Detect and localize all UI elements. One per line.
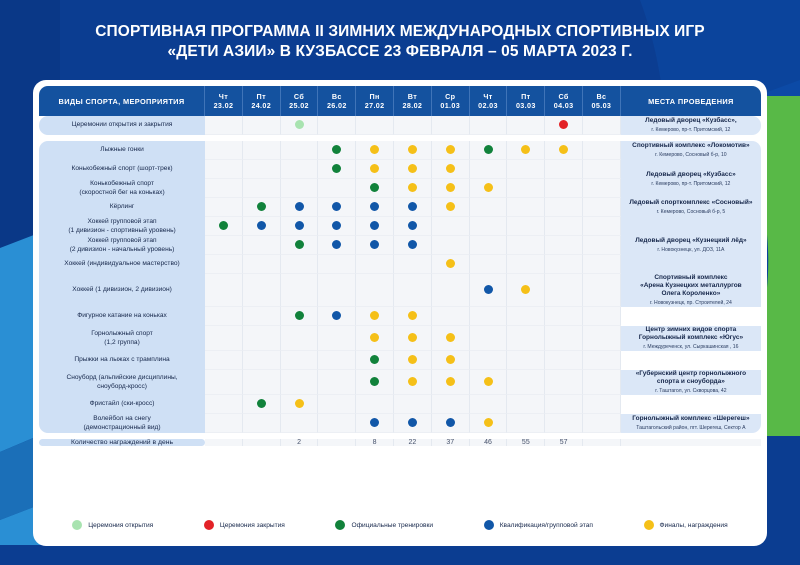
legend-item-train: Официальные тренировки xyxy=(335,520,433,530)
schedule-cell-27.02 xyxy=(356,326,394,351)
title-line-2: «ДЕТИ АЗИИ» В КУЗБАССЕ 23 ФЕВРАЛЯ – 05 М… xyxy=(0,42,800,62)
schedule-cell-24.02 xyxy=(243,217,281,236)
day-of-week: Вс xyxy=(583,92,620,101)
schedule-cell-25.02 xyxy=(281,326,319,351)
schedule-cell-26.02 xyxy=(318,198,356,217)
status-dot-qual xyxy=(257,221,266,230)
schedule-cell-02.03 xyxy=(470,351,508,370)
status-dot-final xyxy=(408,355,417,364)
table-body: Церемонии открытия и закрытияЛедовый дво… xyxy=(39,116,761,446)
schedule-cell-24.02 xyxy=(243,395,281,414)
schedule-cell-04.03 xyxy=(545,198,583,217)
schedule-cell-03.03 xyxy=(507,236,545,255)
table-header: ВИДЫ СПОРТА, МЕРОПРИЯТИЯ Чт23.02Пт24.02С… xyxy=(39,86,761,116)
status-dot-qual xyxy=(370,202,379,211)
sport-name-cell: Церемонии открытия и закрытия xyxy=(39,116,205,135)
status-dot-train xyxy=(332,164,341,173)
header-day-28.02: Вт28.02 xyxy=(394,86,432,116)
day-date: 24.02 xyxy=(243,101,280,110)
venue-cell: Ледовый дворец «Кузбасс»,г. Кемерово, пр… xyxy=(621,116,761,135)
status-dot-final xyxy=(484,418,493,427)
legend-dot-final xyxy=(644,520,654,530)
status-dot-qual xyxy=(408,202,417,211)
schedule-cell-25.02 xyxy=(281,160,319,179)
schedule-cell-23.02 xyxy=(205,370,243,395)
status-dot-train xyxy=(484,145,493,154)
schedule-cell-03.03 xyxy=(507,351,545,370)
page-root: СПОРТИВНАЯ ПРОГРАММА II ЗИМНИХ МЕЖДУНАРО… xyxy=(0,0,800,565)
status-dot-qual xyxy=(370,240,379,249)
venue-cell: Горнолыжный комплекс «Шерегеш»Таштагольс… xyxy=(621,414,761,433)
status-dot-open xyxy=(295,120,304,129)
schedule-table: ВИДЫ СПОРТА, МЕРОПРИЯТИЯ Чт23.02Пт24.02С… xyxy=(39,86,761,446)
schedule-cell-03.03 xyxy=(507,274,545,307)
status-dot-qual xyxy=(332,311,341,320)
status-dot-train xyxy=(257,399,266,408)
schedule-cell-03.03 xyxy=(507,370,545,395)
status-dot-qual xyxy=(332,221,341,230)
status-dot-train xyxy=(370,183,379,192)
sport-name-cell: Конькобежный спорт(скоростной бег на кон… xyxy=(39,179,205,198)
awards-count-25.02: 2 xyxy=(281,439,319,446)
schedule-cell-27.02 xyxy=(356,255,394,274)
schedule-cell-28.02 xyxy=(394,236,432,255)
status-dot-final xyxy=(521,285,530,294)
schedule-cell-26.02 xyxy=(318,395,356,414)
schedule-cell-05.03 xyxy=(583,217,621,236)
awards-count-blank xyxy=(621,439,761,446)
schedule-cell-25.02 xyxy=(281,370,319,395)
day-of-week: Ср xyxy=(432,92,469,101)
venue-name: «Губернский центр горнолыжногоспорта и с… xyxy=(621,370,761,386)
schedule-cell-26.02 xyxy=(318,326,356,351)
schedule-cell-28.02 xyxy=(394,414,432,433)
day-of-week: Сб xyxy=(545,92,582,101)
schedule-cell-04.03 xyxy=(545,141,583,160)
schedule-cell-27.02 xyxy=(356,351,394,370)
schedule-cell-02.03 xyxy=(470,395,508,414)
table-row: Лыжные гонкиСпортивный комплекс «Локомот… xyxy=(39,141,761,160)
schedule-cell-28.02 xyxy=(394,198,432,217)
schedule-cell-25.02 xyxy=(281,395,319,414)
schedule-cell-04.03 xyxy=(545,370,583,395)
page-title: СПОРТИВНАЯ ПРОГРАММА II ЗИМНИХ МЕЖДУНАРО… xyxy=(0,22,800,62)
schedule-cell-04.03 xyxy=(545,274,583,307)
legend-label: Финалы, награждения xyxy=(660,522,728,529)
header-day-02.03: Чт02.03 xyxy=(470,86,508,116)
status-dot-train xyxy=(219,221,228,230)
status-dot-final xyxy=(370,164,379,173)
sport-name-cell: Волейбол на снегу(демонстрационный вид) xyxy=(39,414,205,433)
schedule-cell-01.03 xyxy=(432,179,470,198)
status-dot-final xyxy=(521,145,530,154)
sport-name-cell: Кёрлинг xyxy=(39,198,205,217)
schedule-cell-24.02 xyxy=(243,116,281,135)
header-sport-column: ВИДЫ СПОРТА, МЕРОПРИЯТИЯ xyxy=(39,86,205,116)
venue-address: г. Новокузнецк, ул. ДОЗ, 11А xyxy=(621,246,761,254)
table-row: Хоккей (1 дивизион, 2 дивизион)Спортивны… xyxy=(39,274,761,307)
schedule-cell-05.03 xyxy=(583,179,621,198)
schedule-cell-25.02 xyxy=(281,414,319,433)
schedule-cell-28.02 xyxy=(394,351,432,370)
schedule-cell-02.03 xyxy=(470,116,508,135)
status-dot-final xyxy=(295,399,304,408)
schedule-cell-02.03 xyxy=(470,141,508,160)
schedule-cell-25.02 xyxy=(281,236,319,255)
schedule-cell-27.02 xyxy=(356,198,394,217)
schedule-cell-28.02 xyxy=(394,274,432,307)
schedule-cell-28.02 xyxy=(394,255,432,274)
table-row: КёрлингЛедовый спорткомплекс «Сосновый»г… xyxy=(39,198,761,217)
awards-count-24.02 xyxy=(243,439,281,446)
status-dot-train xyxy=(370,355,379,364)
schedule-cell-24.02 xyxy=(243,255,281,274)
day-of-week: Чт xyxy=(470,92,507,101)
day-date: 26.02 xyxy=(318,101,355,110)
sport-name-cell: Хоккей (1 дивизион, 2 дивизион) xyxy=(39,274,205,307)
table-row: Прыжки на лыжах с трамплина xyxy=(39,351,761,370)
awards-count-05.03 xyxy=(583,439,621,446)
status-dot-qual xyxy=(484,285,493,294)
status-dot-train xyxy=(257,202,266,211)
schedule-cell-05.03 xyxy=(583,116,621,135)
schedule-cell-01.03 xyxy=(432,160,470,179)
schedule-cell-23.02 xyxy=(205,255,243,274)
schedule-cell-01.03 xyxy=(432,414,470,433)
legend-label: Церемония открытия xyxy=(88,522,153,529)
schedule-cell-02.03 xyxy=(470,274,508,307)
status-dot-train xyxy=(295,240,304,249)
schedule-cell-28.02 xyxy=(394,217,432,236)
schedule-cell-26.02 xyxy=(318,116,356,135)
schedule-cell-27.02 xyxy=(356,116,394,135)
schedule-cell-05.03 xyxy=(583,255,621,274)
status-dot-final xyxy=(408,377,417,386)
venue-address: г. Междуреченск, ул. Сыркашинская , 16 xyxy=(621,343,761,351)
schedule-cell-26.02 xyxy=(318,370,356,395)
schedule-cell-02.03 xyxy=(470,160,508,179)
venue-address: г. Кемерово, Сосновый б-р, 10 xyxy=(621,151,761,159)
sport-name-cell: Горнолыжный спорт(1,2 группа) xyxy=(39,326,205,351)
venue-cell: Ледовый дворец «Кузбасс»г. Кемерово, пр-… xyxy=(621,160,761,198)
schedule-cell-01.03 xyxy=(432,395,470,414)
legend-item-open: Церемония открытия xyxy=(72,520,153,530)
schedule-cell-03.03 xyxy=(507,160,545,179)
schedule-cell-04.03 xyxy=(545,414,583,433)
sport-name-cell: Хоккей групповой этап(2 дивизион - начал… xyxy=(39,236,205,255)
status-dot-final xyxy=(408,164,417,173)
legend-label: Официальные тренировки xyxy=(351,522,433,529)
schedule-cell-04.03 xyxy=(545,307,583,326)
sport-name-cell: Лыжные гонки xyxy=(39,141,205,160)
day-of-week: Пн xyxy=(356,92,393,101)
day-date: 01.03 xyxy=(432,101,469,110)
venue-cell: Центр зимних видов спортаГорнолыжный ком… xyxy=(621,326,761,351)
schedule-cell-02.03 xyxy=(470,255,508,274)
schedule-cell-24.02 xyxy=(243,160,281,179)
schedule-cell-27.02 xyxy=(356,274,394,307)
table-row: Церемонии открытия и закрытияЛедовый дво… xyxy=(39,116,761,135)
schedule-cell-02.03 xyxy=(470,217,508,236)
schedule-cell-05.03 xyxy=(583,395,621,414)
day-of-week: Вс xyxy=(318,92,355,101)
header-day-01.03: Ср01.03 xyxy=(432,86,470,116)
status-dot-final xyxy=(446,333,455,342)
schedule-cell-01.03 xyxy=(432,236,470,255)
schedule-cell-05.03 xyxy=(583,307,621,326)
header-day-03.03: Пт03.03 xyxy=(507,86,545,116)
schedule-cell-23.02 xyxy=(205,326,243,351)
schedule-cell-25.02 xyxy=(281,141,319,160)
status-dot-qual xyxy=(295,202,304,211)
schedule-cell-26.02 xyxy=(318,255,356,274)
status-dot-final xyxy=(446,183,455,192)
awards-count-03.03: 55 xyxy=(507,439,545,446)
schedule-cell-01.03 xyxy=(432,198,470,217)
venue-name: Ледовый дворец «Кузбасс», xyxy=(621,117,761,125)
sport-name-cell: Хоккей групповой этап(1 дивизион - спорт… xyxy=(39,217,205,236)
awards-count-row: Количество награждений в день28223746555… xyxy=(39,439,761,446)
status-dot-final xyxy=(559,145,568,154)
schedule-cell-28.02 xyxy=(394,395,432,414)
schedule-cell-26.02 xyxy=(318,179,356,198)
status-dot-qual xyxy=(408,221,417,230)
status-dot-qual xyxy=(370,418,379,427)
schedule-cell-04.03 xyxy=(545,326,583,351)
schedule-cell-25.02 xyxy=(281,307,319,326)
awards-count-23.02 xyxy=(205,439,243,446)
table-row: Волейбол на снегу(демонстрационный вид)Г… xyxy=(39,414,761,433)
sport-name-cell: Сноуборд (альпийские дисциплины,сноуборд… xyxy=(39,370,205,395)
status-dot-final xyxy=(408,311,417,320)
status-dot-final xyxy=(408,145,417,154)
schedule-cell-02.03 xyxy=(470,370,508,395)
schedule-cell-05.03 xyxy=(583,198,621,217)
schedule-cell-04.03 xyxy=(545,179,583,198)
status-dot-qual xyxy=(332,240,341,249)
status-dot-qual xyxy=(332,202,341,211)
schedule-cell-01.03 xyxy=(432,274,470,307)
status-dot-final xyxy=(484,377,493,386)
status-dot-qual xyxy=(408,240,417,249)
schedule-cell-27.02 xyxy=(356,141,394,160)
status-dot-close xyxy=(559,120,568,129)
venue-cell: «Губернский центр горнолыжногоспорта и с… xyxy=(621,370,761,395)
schedule-cell-03.03 xyxy=(507,179,545,198)
schedule-cell-03.03 xyxy=(507,116,545,135)
schedule-cell-01.03 xyxy=(432,370,470,395)
awards-count-04.03: 57 xyxy=(545,439,583,446)
legend-label: Церемония закрытия xyxy=(220,522,285,529)
schedule-cell-04.03 xyxy=(545,160,583,179)
schedule-cell-03.03 xyxy=(507,217,545,236)
schedule-cell-04.03 xyxy=(545,217,583,236)
table-row: Хоккей групповой этап(1 дивизион - спорт… xyxy=(39,217,761,236)
day-date: 28.02 xyxy=(394,101,431,110)
table-row: Фигурное катание на коньках xyxy=(39,307,761,326)
sport-name-cell: Хоккей (индивидуальное мастерство) xyxy=(39,255,205,274)
schedule-cell-05.03 xyxy=(583,236,621,255)
schedule-cell-27.02 xyxy=(356,160,394,179)
schedule-card: ВИДЫ СПОРТА, МЕРОПРИЯТИЯ Чт23.02Пт24.02С… xyxy=(33,80,767,546)
header-venue-column: МЕСТА ПРОВЕДЕНИЯ xyxy=(621,86,761,116)
schedule-cell-04.03 xyxy=(545,255,583,274)
sport-name-cell: Фигурное катание на коньках xyxy=(39,307,205,326)
status-dot-final xyxy=(446,259,455,268)
venue-cell: Спортивный комплекс«Арена Кузнецких мета… xyxy=(621,274,761,307)
schedule-cell-23.02 xyxy=(205,351,243,370)
schedule-cell-05.03 xyxy=(583,274,621,307)
status-dot-qual xyxy=(370,221,379,230)
schedule-cell-05.03 xyxy=(583,160,621,179)
schedule-cell-28.02 xyxy=(394,141,432,160)
venue-cell: Ледовый спорткомплекс «Сосновый»г. Кемер… xyxy=(621,198,761,217)
schedule-cell-23.02 xyxy=(205,217,243,236)
schedule-cell-02.03 xyxy=(470,198,508,217)
schedule-cell-26.02 xyxy=(318,236,356,255)
schedule-cell-23.02 xyxy=(205,141,243,160)
status-dot-final xyxy=(446,145,455,154)
schedule-cell-02.03 xyxy=(470,326,508,351)
schedule-cell-01.03 xyxy=(432,255,470,274)
day-date: 02.03 xyxy=(470,101,507,110)
schedule-cell-03.03 xyxy=(507,307,545,326)
schedule-cell-25.02 xyxy=(281,351,319,370)
schedule-cell-01.03 xyxy=(432,307,470,326)
schedule-cell-23.02 xyxy=(205,198,243,217)
legend-dot-close xyxy=(204,520,214,530)
schedule-cell-25.02 xyxy=(281,179,319,198)
venue-address: Таштагольский район, пгт. Шерегеш, Секто… xyxy=(621,424,761,432)
schedule-cell-25.02 xyxy=(281,198,319,217)
schedule-cell-26.02 xyxy=(318,141,356,160)
schedule-cell-02.03 xyxy=(470,236,508,255)
schedule-cell-03.03 xyxy=(507,395,545,414)
status-dot-train xyxy=(370,377,379,386)
schedule-cell-24.02 xyxy=(243,236,281,255)
legend-dot-train xyxy=(335,520,345,530)
header-day-23.02: Чт23.02 xyxy=(205,86,243,116)
schedule-cell-24.02 xyxy=(243,326,281,351)
legend-item-final: Финалы, награждения xyxy=(644,520,728,530)
schedule-cell-03.03 xyxy=(507,198,545,217)
schedule-cell-26.02 xyxy=(318,217,356,236)
venue-name: Центр зимних видов спортаГорнолыжный ком… xyxy=(621,326,761,342)
day-date: 25.02 xyxy=(281,101,318,110)
schedule-cell-25.02 xyxy=(281,255,319,274)
header-day-26.02: Вс26.02 xyxy=(318,86,356,116)
schedule-cell-26.02 xyxy=(318,414,356,433)
schedule-cell-03.03 xyxy=(507,414,545,433)
venue-name: Ледовый дворец «Кузбасс» xyxy=(621,171,761,179)
day-of-week: Пт xyxy=(507,92,544,101)
awards-count-27.02: 8 xyxy=(356,439,394,446)
schedule-cell-23.02 xyxy=(205,307,243,326)
venue-address: г. Кемерово, пр-т. Притомский, 12 xyxy=(621,126,761,134)
schedule-cell-26.02 xyxy=(318,274,356,307)
schedule-cell-03.03 xyxy=(507,255,545,274)
schedule-cell-02.03 xyxy=(470,307,508,326)
schedule-cell-01.03 xyxy=(432,116,470,135)
day-of-week: Вт xyxy=(394,92,431,101)
schedule-cell-28.02 xyxy=(394,116,432,135)
day-date: 05.03 xyxy=(583,101,620,110)
venue-address: г. Кемерово, пр-т. Притомский, 12 xyxy=(621,180,761,188)
status-dot-qual xyxy=(446,418,455,427)
status-dot-final xyxy=(484,183,493,192)
venue-name: Ледовый дворец «Кузнецкий лёд» xyxy=(621,237,761,245)
title-line-1: СПОРТИВНАЯ ПРОГРАММА II ЗИМНИХ МЕЖДУНАРО… xyxy=(0,22,800,42)
schedule-cell-24.02 xyxy=(243,179,281,198)
sport-name-cell: Фристайл (ски-кросс) xyxy=(39,395,205,414)
legend-item-qual: Квалификация/групповой этап xyxy=(484,520,593,530)
awards-count-28.02: 22 xyxy=(394,439,432,446)
schedule-cell-27.02 xyxy=(356,414,394,433)
schedule-cell-28.02 xyxy=(394,307,432,326)
schedule-cell-23.02 xyxy=(205,395,243,414)
day-date: 27.02 xyxy=(356,101,393,110)
status-dot-final xyxy=(446,164,455,173)
schedule-cell-24.02 xyxy=(243,274,281,307)
schedule-cell-27.02 xyxy=(356,217,394,236)
schedule-cell-01.03 xyxy=(432,351,470,370)
table-row: Конькобежный спорт (шорт-трек)Ледовый дв… xyxy=(39,160,761,179)
venue-cell: Спортивный комплекс «Локомотив»г. Кемеро… xyxy=(621,141,761,160)
schedule-cell-26.02 xyxy=(318,307,356,326)
table-row: Сноуборд (альпийские дисциплины,сноуборд… xyxy=(39,370,761,395)
table-row: Фристайл (ски-кросс) xyxy=(39,395,761,414)
header-day-05.03: Вс05.03 xyxy=(583,86,621,116)
schedule-cell-05.03 xyxy=(583,351,621,370)
schedule-cell-23.02 xyxy=(205,160,243,179)
header-day-25.02: Сб25.02 xyxy=(281,86,319,116)
sport-name-cell: Конькобежный спорт (шорт-трек) xyxy=(39,160,205,179)
schedule-cell-25.02 xyxy=(281,116,319,135)
awards-count-26.02 xyxy=(318,439,356,446)
status-dot-train xyxy=(295,311,304,320)
venue-name: Спортивный комплекс«Арена Кузнецких мета… xyxy=(621,274,761,298)
header-day-04.03: Сб04.03 xyxy=(545,86,583,116)
header-day-27.02: Пн27.02 xyxy=(356,86,394,116)
schedule-cell-02.03 xyxy=(470,179,508,198)
schedule-cell-27.02 xyxy=(356,179,394,198)
awards-count-label: Количество награждений в день xyxy=(39,439,205,446)
status-dot-final xyxy=(446,355,455,364)
venue-address: г. Таштагол, ул. Скворцова, 42 xyxy=(621,387,761,395)
schedule-cell-02.03 xyxy=(470,414,508,433)
schedule-cell-26.02 xyxy=(318,160,356,179)
schedule-cell-27.02 xyxy=(356,395,394,414)
schedule-cell-24.02 xyxy=(243,141,281,160)
schedule-cell-23.02 xyxy=(205,414,243,433)
schedule-cell-23.02 xyxy=(205,236,243,255)
legend-label: Квалификация/групповой этап xyxy=(500,522,593,529)
schedule-cell-05.03 xyxy=(583,370,621,395)
schedule-cell-28.02 xyxy=(394,179,432,198)
schedule-cell-27.02 xyxy=(356,307,394,326)
legend-dot-open xyxy=(72,520,82,530)
schedule-cell-04.03 xyxy=(545,395,583,414)
status-dot-final xyxy=(408,333,417,342)
schedule-cell-28.02 xyxy=(394,326,432,351)
schedule-cell-25.02 xyxy=(281,274,319,307)
schedule-cell-24.02 xyxy=(243,351,281,370)
sport-name-cell: Прыжки на лыжах с трамплина xyxy=(39,351,205,370)
day-of-week: Чт xyxy=(205,92,242,101)
schedule-cell-05.03 xyxy=(583,326,621,351)
venue-cell: Ледовый дворец «Кузнецкий лёд»г. Новокуз… xyxy=(621,217,761,274)
header-day-24.02: Пт24.02 xyxy=(243,86,281,116)
